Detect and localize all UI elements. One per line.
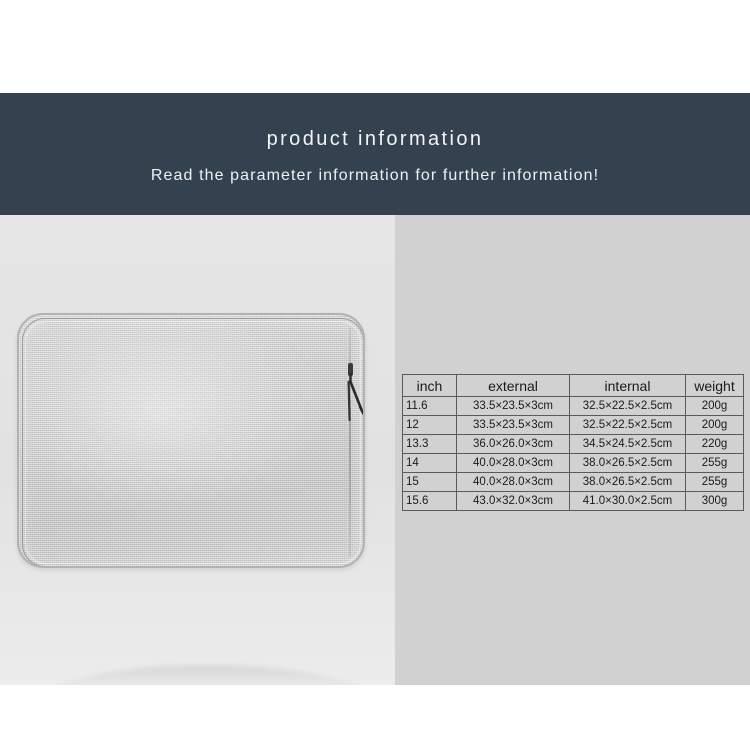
cell-external: 33.5×23.5×3cm: [457, 397, 570, 416]
column-header-weight: weight: [686, 375, 744, 397]
content-area: inch external internal weight 11.6 33.5×…: [0, 215, 750, 685]
surface-reflection: [47, 665, 367, 685]
specification-table: inch external internal weight 11.6 33.5×…: [402, 374, 744, 511]
cell-weight: 255g: [686, 454, 744, 473]
cell-weight: 220g: [686, 435, 744, 454]
spec-table-wrapper: inch external internal weight 11.6 33.5×…: [402, 374, 743, 511]
cell-inch: 11.6: [403, 397, 457, 416]
table-header-row: inch external internal weight: [403, 375, 744, 397]
page-title: product information: [267, 129, 484, 149]
table-row: 12 33.5×23.5×3cm 32.5×22.5×2.5cm 200g: [403, 416, 744, 435]
table-row: 14 40.0×28.0×3cm 38.0×26.5×2.5cm 255g: [403, 454, 744, 473]
header-banner: product information Read the parameter i…: [0, 93, 750, 215]
product-info-page: product information Read the parameter i…: [0, 0, 750, 750]
cell-internal: 38.0×26.5×2.5cm: [570, 473, 686, 492]
cell-internal: 34.5×24.5×2.5cm: [570, 435, 686, 454]
column-header-inch: inch: [403, 375, 457, 397]
cell-weight: 200g: [686, 416, 744, 435]
cell-weight: 200g: [686, 397, 744, 416]
cell-external: 33.5×23.5×3cm: [457, 416, 570, 435]
cell-external: 43.0×32.0×3cm: [457, 492, 570, 511]
cell-external: 40.0×28.0×3cm: [457, 454, 570, 473]
cell-inch: 12: [403, 416, 457, 435]
table-row: 15 40.0×28.0×3cm 38.0×26.5×2.5cm 255g: [403, 473, 744, 492]
cell-internal: 32.5×22.5×2.5cm: [570, 397, 686, 416]
sleeve-body: [17, 313, 365, 568]
cell-inch: 15: [403, 473, 457, 492]
cell-internal: 41.0×30.0×2.5cm: [570, 492, 686, 511]
cell-weight: 300g: [686, 492, 744, 511]
zipper-seam: [349, 327, 351, 558]
cell-external: 40.0×28.0×3cm: [457, 473, 570, 492]
table-row: 13.3 36.0×26.0×3cm 34.5×24.5×2.5cm 220g: [403, 435, 744, 454]
cell-inch: 13.3: [403, 435, 457, 454]
cell-weight: 255g: [686, 473, 744, 492]
cell-internal: 38.0×26.5×2.5cm: [570, 454, 686, 473]
column-header-internal: internal: [570, 375, 686, 397]
laptop-sleeve-image: [17, 313, 365, 568]
zipper-pull-icon: [341, 363, 365, 425]
cell-internal: 32.5×22.5×2.5cm: [570, 416, 686, 435]
page-subtitle: Read the parameter information for furth…: [151, 168, 599, 184]
cell-external: 36.0×26.0×3cm: [457, 435, 570, 454]
table-row: 11.6 33.5×23.5×3cm 32.5×22.5×2.5cm 200g: [403, 397, 744, 416]
table-row: 15.6 43.0×32.0×3cm 41.0×30.0×2.5cm 300g: [403, 492, 744, 511]
cell-inch: 14: [403, 454, 457, 473]
spec-panel: inch external internal weight 11.6 33.5×…: [395, 215, 750, 685]
fabric-texture: [19, 315, 363, 566]
cell-inch: 15.6: [403, 492, 457, 511]
product-photo-panel: [0, 215, 395, 685]
column-header-external: external: [457, 375, 570, 397]
